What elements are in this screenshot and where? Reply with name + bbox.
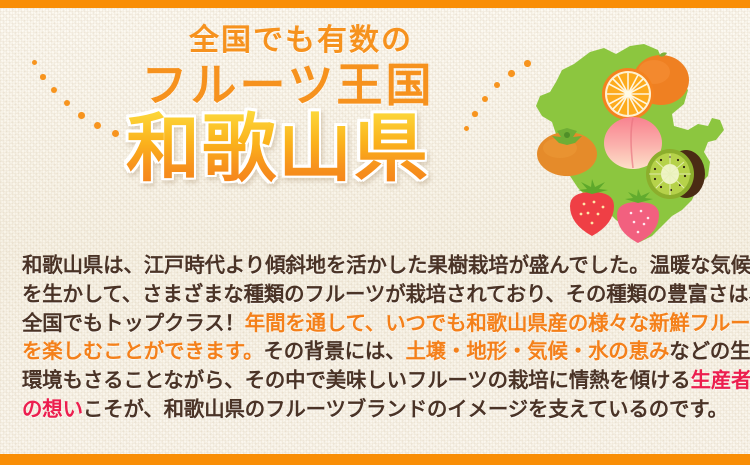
- body-text: 和歌山県は、江戸時代より傾斜地を活かした果樹栽培が盛んでした。温暖な気候: [22, 255, 750, 277]
- body-line: を生かして、さまざまな種類のフルーツが栽培されており、その種類の豊富さは、: [22, 281, 734, 310]
- strawberry-red-icon: [566, 178, 618, 240]
- body-text-highlight: 年間を通して、いつでも和歌山県産の様々な新鮮フルーツ: [245, 313, 750, 335]
- body-text-highlight: を楽しむことができます。: [22, 341, 263, 363]
- heading-eyebrow: 全国でも有数の: [104, 26, 498, 56]
- body-line: 和歌山県は、江戸時代より傾斜地を活かした果樹栽培が盛んでした。温暖な気候: [22, 252, 734, 281]
- body-line: 環境もさることながら、その中で美味しいフルーツの栽培に情熱を傾ける生産者: [22, 367, 734, 396]
- body-text-highlight: 土壌・地形・気候・水の恵み: [406, 341, 670, 363]
- body-text: などの生育: [669, 341, 750, 363]
- body-text: を生かして、さまざまな種類のフルーツが栽培されており、その種類の豊富さは、: [22, 284, 750, 306]
- body-text: その背景には、: [263, 341, 405, 363]
- heading-subtitle: フルーツ王国: [78, 62, 498, 108]
- body-text: 全国でもトップクラス！: [22, 313, 245, 335]
- body-copy: 和歌山県は、江戸時代より傾斜地を活かした果樹栽培が盛んでした。温暖な気候を生かし…: [22, 252, 734, 425]
- decorative-dot: [40, 74, 46, 80]
- header-section: 全国でも有数の フルーツ王国 和歌山県: [0, 8, 750, 240]
- top-accent-bar: [0, 0, 750, 8]
- bottom-accent-bar: [0, 454, 750, 465]
- decorative-dot: [32, 60, 37, 65]
- wakayama-map-illustration: [512, 30, 744, 252]
- page-title: 和歌山県: [58, 110, 498, 188]
- strawberry-pink-icon: [612, 188, 664, 246]
- body-text-highlight: 生産者: [691, 370, 750, 392]
- persimmon-icon: [534, 122, 600, 178]
- body-line: 全国でもトップクラス！年間を通して、いつでも和歌山県産の様々な新鮮フルーツ: [22, 310, 734, 339]
- decorative-dot: [51, 87, 57, 93]
- body-line: の想いこそが、和歌山県のフルーツブランドのイメージを支えているのです。: [22, 396, 734, 425]
- promo-banner: 全国でも有数の フルーツ王国 和歌山県: [0, 0, 750, 465]
- body-text: こそが、和歌山県のフルーツブランドのイメージを支えているのです。: [83, 399, 728, 421]
- body-text-highlight: の想い: [22, 399, 83, 421]
- body-line: を楽しむことができます。その背景には、土壌・地形・気候・水の恵みなどの生育: [22, 338, 734, 367]
- heading-block: 全国でも有数の フルーツ王国 和歌山県: [58, 26, 498, 188]
- body-text: 環境もさることながら、その中で美味しいフルーツの栽培に情熱を傾ける: [22, 370, 691, 392]
